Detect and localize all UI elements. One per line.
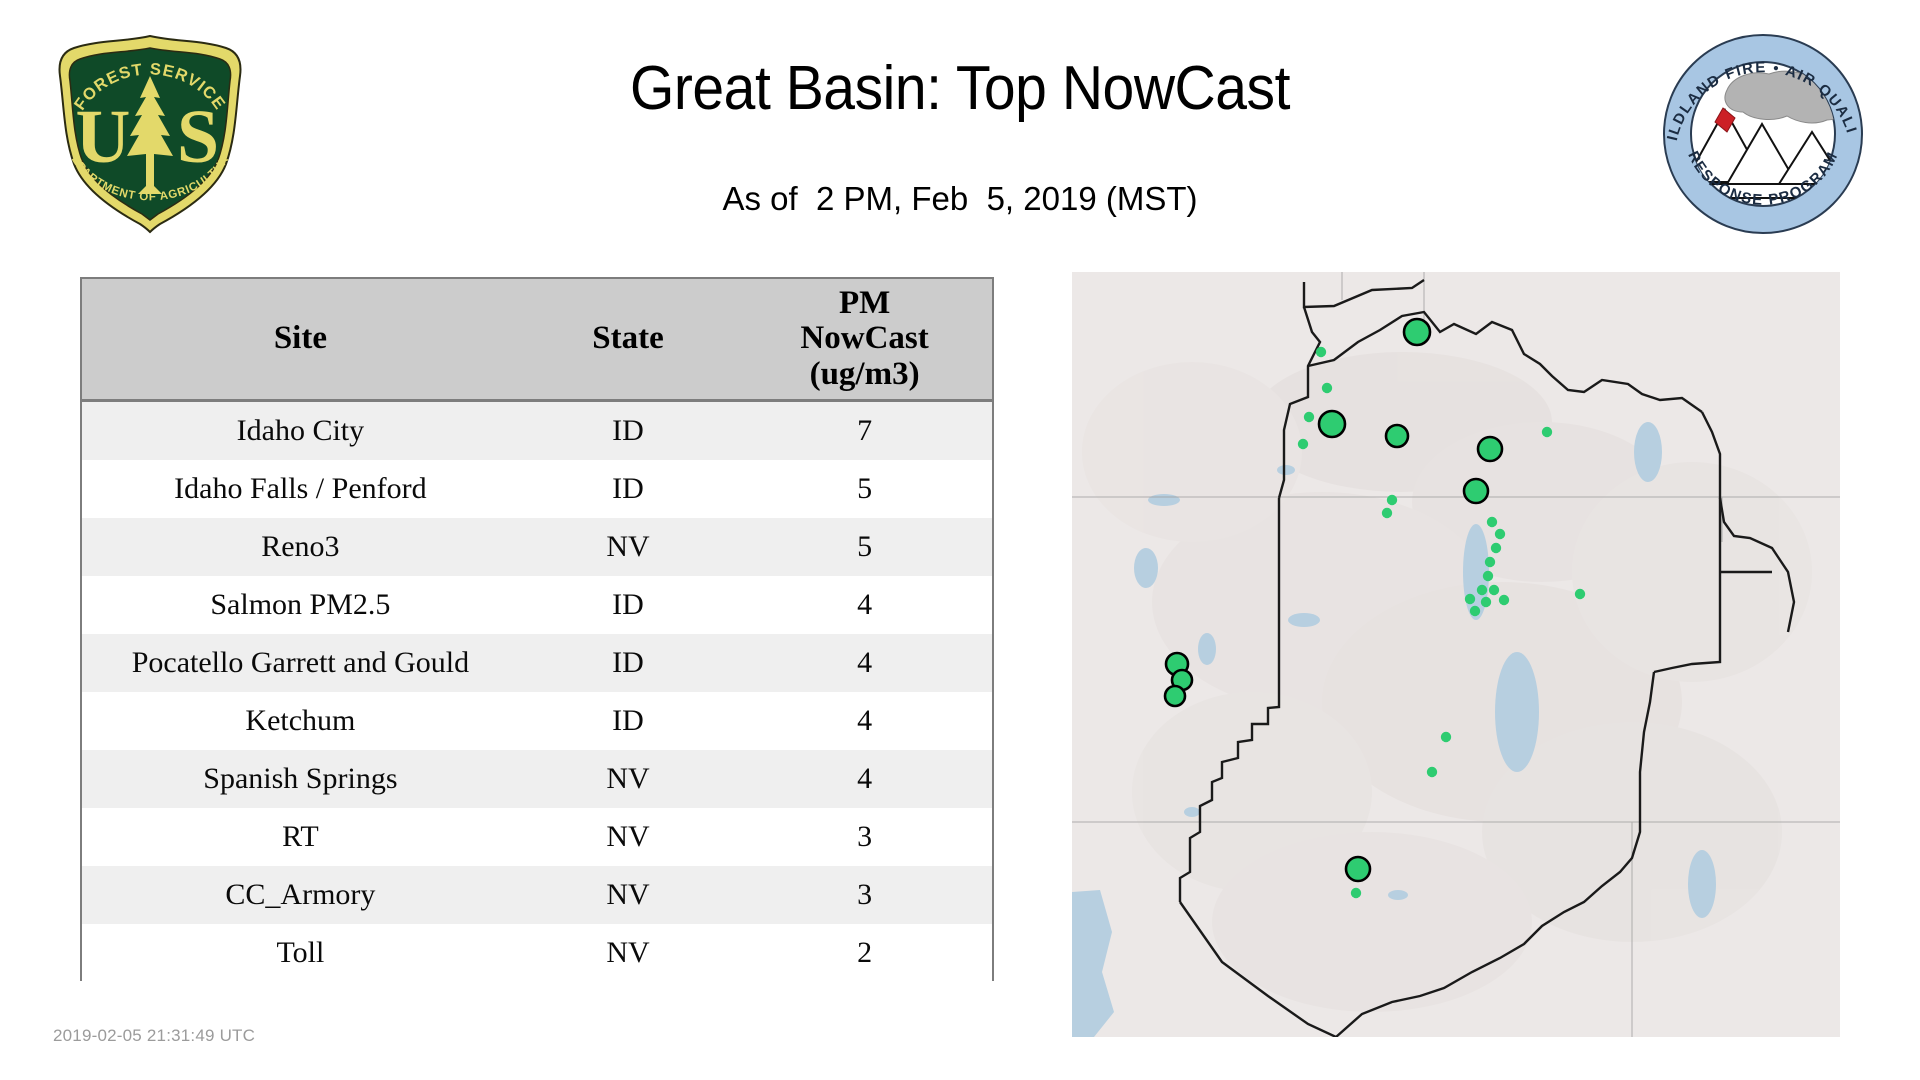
monitor-marker-small[interactable] <box>1441 732 1451 742</box>
cell-state: NV <box>519 924 737 982</box>
cell-site: Ketchum <box>82 692 519 750</box>
monitor-marker-small[interactable] <box>1485 557 1495 567</box>
monitor-marker-small[interactable] <box>1489 585 1499 595</box>
cell-pm-nowcast: 3 <box>737 808 992 866</box>
nowcast-table-container: Site State PM NowCast (ug/m3) Idaho City… <box>80 277 994 981</box>
monitor-marker-small[interactable] <box>1481 597 1491 607</box>
monitor-marker-small[interactable] <box>1298 439 1308 449</box>
table-header: Site State PM NowCast (ug/m3) <box>82 279 992 401</box>
monitor-marker-small[interactable] <box>1491 543 1501 553</box>
table-row[interactable]: Pocatello Garrett and GouldID4 <box>82 634 992 692</box>
cell-state: NV <box>519 808 737 866</box>
cell-state: ID <box>519 460 737 518</box>
column-header-pm-line3: (ug/m3) <box>737 357 992 393</box>
column-header-pm-line1: PM <box>737 286 992 322</box>
table-row[interactable]: CC_ArmoryNV3 <box>82 866 992 924</box>
monitor-marker-small[interactable] <box>1387 495 1397 505</box>
monitor-marker-small[interactable] <box>1499 595 1509 605</box>
cell-site: Reno3 <box>82 518 519 576</box>
cell-pm-nowcast: 4 <box>737 634 992 692</box>
column-header-pm-nowcast: PM NowCast (ug/m3) <box>737 279 992 401</box>
cell-state: ID <box>519 692 737 750</box>
cell-site: RT <box>82 808 519 866</box>
monitor-marker-top-site[interactable] <box>1386 425 1408 447</box>
cell-pm-nowcast: 4 <box>737 576 992 634</box>
cell-site: Spanish Springs <box>82 750 519 808</box>
monitor-marker-small[interactable] <box>1304 412 1314 422</box>
nowcast-table: Site State PM NowCast (ug/m3) Idaho City… <box>82 279 992 982</box>
monitor-marker-small[interactable] <box>1322 383 1332 393</box>
monitor-marker-small[interactable] <box>1542 427 1552 437</box>
monitor-marker-small[interactable] <box>1465 594 1475 604</box>
monitor-marker-small[interactable] <box>1470 606 1480 616</box>
table-row[interactable]: KetchumID4 <box>82 692 992 750</box>
cell-state: NV <box>519 518 737 576</box>
wfaqrp-logo-svg: WILDLAND FIRE • AIR QUALITY RESPONSE PRO… <box>1657 32 1869 237</box>
footer-timestamp: 2019-02-05 21:31:49 UTC <box>53 1026 255 1046</box>
monitor-marker-small[interactable] <box>1495 529 1505 539</box>
monitor-marker-small[interactable] <box>1575 589 1585 599</box>
cell-site: Toll <box>82 924 519 982</box>
cell-pm-nowcast: 3 <box>737 866 992 924</box>
column-header-pm-line2: NowCast <box>737 321 992 357</box>
cell-site: Idaho Falls / Penford <box>82 460 519 518</box>
cell-state: ID <box>519 634 737 692</box>
cell-state: NV <box>519 750 737 808</box>
monitor-marker-top-site[interactable] <box>1346 857 1370 881</box>
table-row[interactable]: Reno3NV5 <box>82 518 992 576</box>
great-basin-monitor-map[interactable] <box>1072 272 1840 1037</box>
page-title: Great Basin: Top NowCast <box>77 58 1843 120</box>
monitor-marker-small[interactable] <box>1487 517 1497 527</box>
map-svg <box>1072 272 1840 1037</box>
cell-state: ID <box>519 401 737 461</box>
monitor-marker-small[interactable] <box>1316 347 1326 357</box>
monitor-marker-small[interactable] <box>1382 508 1392 518</box>
monitor-marker-small[interactable] <box>1477 585 1487 595</box>
cell-pm-nowcast: 5 <box>737 518 992 576</box>
table-row[interactable]: RTNV3 <box>82 808 992 866</box>
cell-site: CC_Armory <box>82 866 519 924</box>
column-header-site: Site <box>82 279 519 401</box>
page-subtitle: As of 2 PM, Feb 5, 2019 (MST) <box>0 182 1920 215</box>
cell-site: Idaho City <box>82 401 519 461</box>
cell-pm-nowcast: 7 <box>737 401 992 461</box>
table-row[interactable]: Spanish SpringsNV4 <box>82 750 992 808</box>
table-row[interactable]: Idaho CityID7 <box>82 401 992 461</box>
monitor-marker-small[interactable] <box>1351 888 1361 898</box>
table-row[interactable]: TollNV2 <box>82 924 992 982</box>
cell-state: ID <box>519 576 737 634</box>
monitor-marker-top-site[interactable] <box>1404 319 1430 345</box>
table-row[interactable]: Salmon PM2.5ID4 <box>82 576 992 634</box>
monitor-marker-top-site[interactable] <box>1478 437 1502 461</box>
cell-pm-nowcast: 2 <box>737 924 992 982</box>
monitor-marker-top-site[interactable] <box>1165 686 1185 706</box>
monitor-marker-small[interactable] <box>1427 767 1437 777</box>
cell-state: NV <box>519 866 737 924</box>
cell-pm-nowcast: 4 <box>737 750 992 808</box>
column-header-state: State <box>519 279 737 401</box>
cell-site: Salmon PM2.5 <box>82 576 519 634</box>
monitor-marker-top-site[interactable] <box>1464 479 1488 503</box>
table-row[interactable]: Idaho Falls / PenfordID5 <box>82 460 992 518</box>
monitor-marker-top-site[interactable] <box>1319 411 1345 437</box>
cell-site: Pocatello Garrett and Gould <box>82 634 519 692</box>
wfaqrp-circular-logo: WILDLAND FIRE • AIR QUALITY RESPONSE PRO… <box>1657 32 1869 237</box>
cell-pm-nowcast: 4 <box>737 692 992 750</box>
monitor-marker-small[interactable] <box>1483 571 1493 581</box>
table-header-row: Site State PM NowCast (ug/m3) <box>82 279 992 401</box>
cell-pm-nowcast: 5 <box>737 460 992 518</box>
table-body: Idaho CityID7Idaho Falls / PenfordID5Ren… <box>82 401 992 983</box>
